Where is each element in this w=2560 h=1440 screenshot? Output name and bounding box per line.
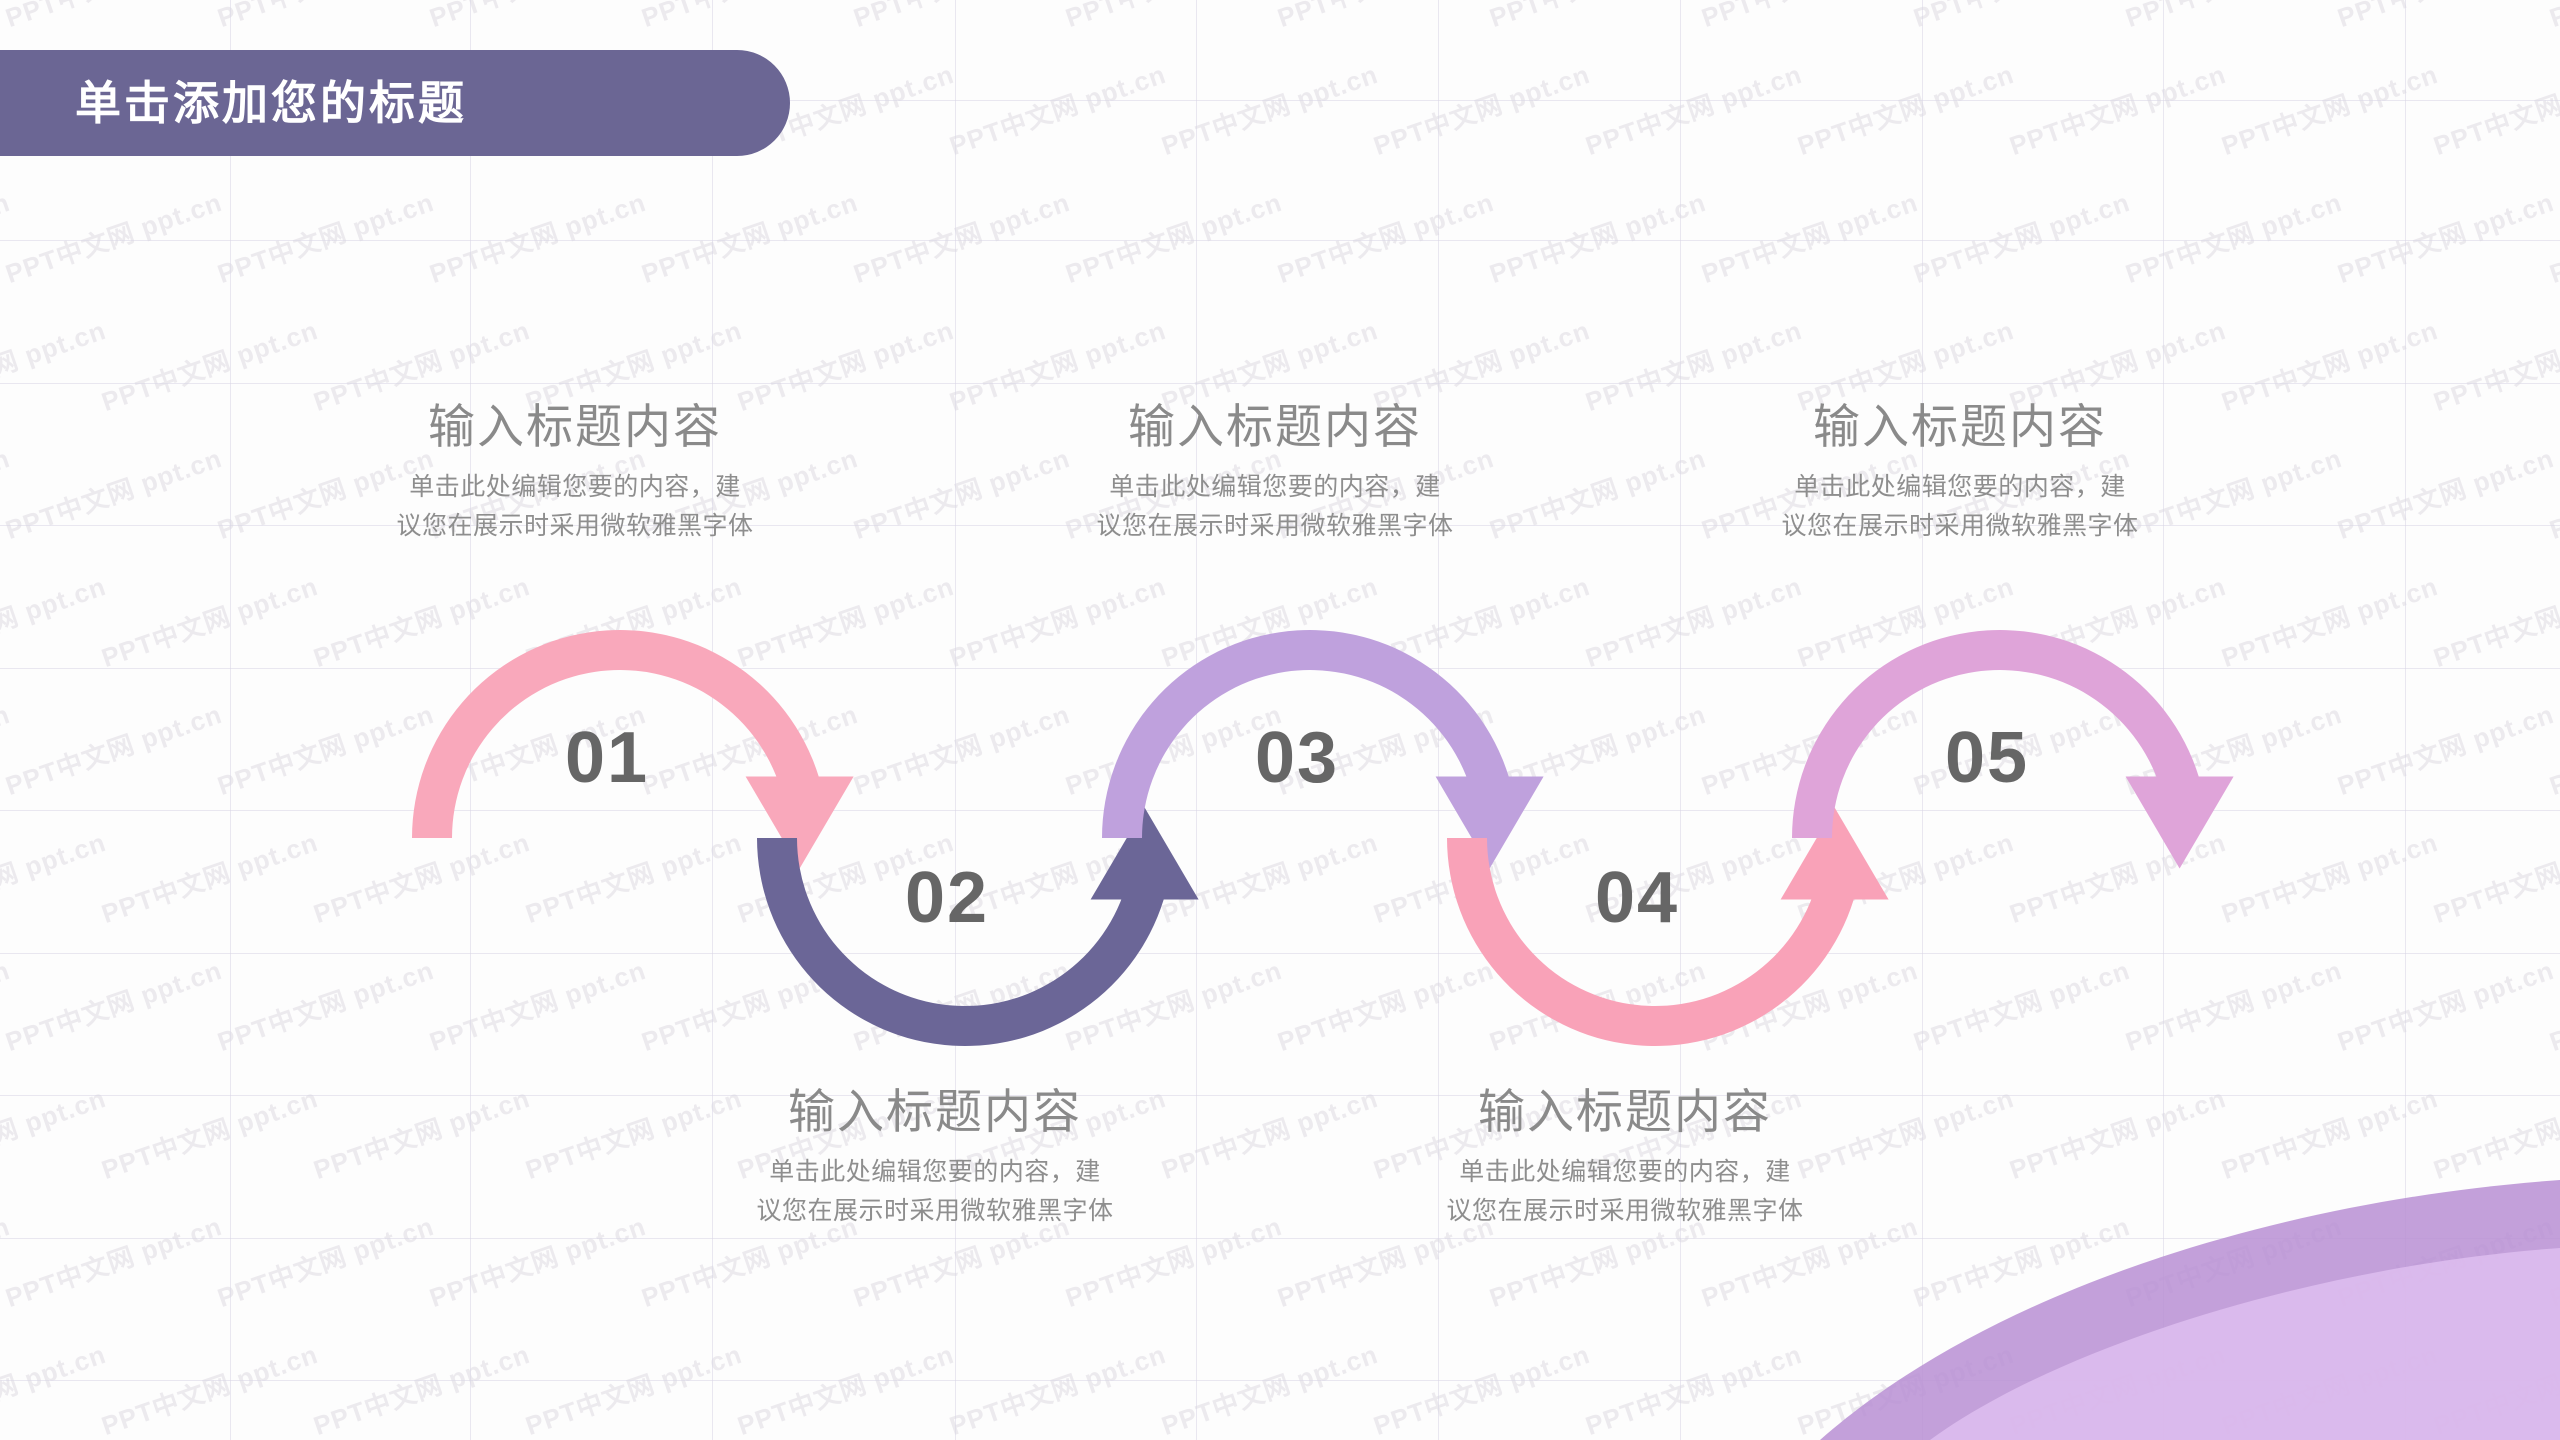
watermark-text: PPT中文网 ppt.cn xyxy=(1060,0,1286,35)
watermark-text: PPT中文网 ppt.cn xyxy=(2332,950,2558,1059)
watermark-text: PPT中文网 ppt.cn xyxy=(2428,566,2560,675)
watermark-text: PPT中文网 ppt.cn xyxy=(848,950,1074,1059)
content-block-5: 输入标题内容 单击此处编辑您要的内容，建 议您在展示时采用微软雅黑字体 xyxy=(1680,400,2240,546)
watermark-text: PPT中文网 ppt.cn xyxy=(0,822,110,931)
watermark-text: PPT中文网 ppt.cn xyxy=(1156,1334,1382,1440)
arrowhead-icon xyxy=(746,776,854,868)
watermark-text: PPT中文网 ppt.cn xyxy=(96,566,322,675)
content-block-3-heading: 输入标题内容 xyxy=(995,400,1555,454)
watermark-text: PPT中文网 ppt.cn xyxy=(848,0,1074,35)
watermark-text: PPT中文网 ppt.cn xyxy=(2428,54,2560,163)
slide-canvas: PPT中文网 ppt.cnPPT中文网 ppt.cnPPT中文网 ppt.cnP… xyxy=(0,0,2560,1440)
watermark-text: PPT中文网 ppt.cn xyxy=(424,0,650,35)
watermark-text: PPT中文网 ppt.cn xyxy=(2544,950,2560,1059)
guide-line-horizontal xyxy=(0,810,2560,811)
content-block-4: 输入标题内容 单击此处编辑您要的内容，建 议您在展示时采用微软雅黑字体 xyxy=(1345,1085,1905,1231)
content-block-1-body-line2: 议您在展示时采用微软雅黑字体 xyxy=(345,507,805,546)
watermark-text: PPT中文网 ppt.cn xyxy=(2332,182,2558,291)
watermark-text: PPT中文网 ppt.cn xyxy=(1908,1206,2134,1315)
watermark-text: PPT中文网 ppt.cn xyxy=(1484,694,1710,803)
guide-line-horizontal xyxy=(0,1380,2560,1381)
watermark-text: PPT中文网 ppt.cn xyxy=(1484,0,1710,35)
watermark-text: PPT中文网 ppt.cn xyxy=(1696,182,1922,291)
watermark-text: PPT中文网 ppt.cn xyxy=(2428,310,2560,419)
watermark-text: PPT中文网 ppt.cn xyxy=(1792,1334,2018,1440)
watermark-text: PPT中文网 ppt.cn xyxy=(1792,566,2018,675)
watermark-text: PPT中文网 ppt.cn xyxy=(1792,54,2018,163)
watermark-text: PPT中文网 ppt.cn xyxy=(2120,694,2346,803)
watermark-text: PPT中文网 ppt.cn xyxy=(1792,822,2018,931)
guide-line-vertical xyxy=(1922,0,1923,1440)
watermark-text: PPT中文网 ppt.cn xyxy=(2216,822,2442,931)
watermark-text: PPT中文网 ppt.cn xyxy=(96,1334,322,1440)
watermark-text: PPT中文网 ppt.cn xyxy=(636,950,862,1059)
watermark-text: PPT中文网 ppt.cn xyxy=(308,822,534,931)
watermark-text: PPT中文网 ppt.cn xyxy=(520,566,746,675)
watermark-text: PPT中文网 ppt.cn xyxy=(2216,566,2442,675)
content-block-1-body: 单击此处编辑您要的内容，建 议您在展示时采用微软雅黑字体 xyxy=(345,468,805,546)
watermark-text: PPT中文网 ppt.cn xyxy=(0,182,226,291)
arrowhead-icon xyxy=(2126,776,2234,868)
watermark-text: PPT中文网 ppt.cn xyxy=(96,1078,322,1187)
watermark-text: PPT中文网 ppt.cn xyxy=(212,950,438,1059)
content-block-4-body-line2: 议您在展示时采用微软雅黑字体 xyxy=(1395,1192,1855,1231)
watermark-text: PPT中文网 ppt.cn xyxy=(636,0,862,35)
step-number-04: 04 xyxy=(1595,862,1679,934)
page-title: 单击添加您的标题 xyxy=(75,80,467,126)
watermark-text: PPT中文网 ppt.cn xyxy=(2216,1078,2442,1187)
watermark-text: PPT中文网 ppt.cn xyxy=(2544,1206,2560,1315)
watermark-text: PPT中文网 ppt.cn xyxy=(2004,54,2230,163)
watermark-text: PPT中文网 ppt.cn xyxy=(1272,182,1498,291)
watermark-text: PPT中文网 ppt.cn xyxy=(2004,822,2230,931)
content-block-2-heading: 输入标题内容 xyxy=(655,1085,1215,1139)
step-number-02: 02 xyxy=(905,862,989,934)
watermark-text: PPT中文网 ppt.cn xyxy=(0,1334,110,1440)
watermark-text: PPT中文网 ppt.cn xyxy=(0,694,226,803)
watermark-text: PPT中文网 ppt.cn xyxy=(848,182,1074,291)
watermark-text: PPT中文网 ppt.cn xyxy=(1060,182,1286,291)
watermark-text: PPT中文网 ppt.cn xyxy=(0,566,110,675)
content-block-3-body: 单击此处编辑您要的内容，建 议您在展示时采用微软雅黑字体 xyxy=(1045,468,1505,546)
guide-line-vertical xyxy=(230,0,231,1440)
content-block-2-body: 单击此处编辑您要的内容，建 议您在展示时采用微软雅黑字体 xyxy=(705,1153,1165,1231)
content-block-2-body-line1: 单击此处编辑您要的内容，建 xyxy=(705,1153,1165,1192)
watermark-text: PPT中文网 ppt.cn xyxy=(308,566,534,675)
step-number-05: 05 xyxy=(1945,722,2029,794)
watermark-text: PPT中文网 ppt.cn xyxy=(1368,822,1594,931)
guide-line-horizontal xyxy=(0,1238,2560,1239)
watermark-text: PPT中文网 ppt.cn xyxy=(1696,0,1922,35)
content-block-4-body-line1: 单击此处编辑您要的内容，建 xyxy=(1395,1153,1855,1192)
watermark-text: PPT中文网 ppt.cn xyxy=(308,1078,534,1187)
watermark-text: PPT中文网 ppt.cn xyxy=(1156,54,1382,163)
content-block-1: 输入标题内容 单击此处编辑您要的内容，建 议您在展示时采用微软雅黑字体 xyxy=(295,400,855,546)
watermark-text: PPT中文网 ppt.cn xyxy=(1908,950,2134,1059)
watermark-text: PPT中文网 ppt.cn xyxy=(944,54,1170,163)
guide-line-horizontal xyxy=(0,668,2560,669)
watermark-text: PPT中文网 ppt.cn xyxy=(1908,0,2134,35)
watermark-text: PPT中文网 ppt.cn xyxy=(2004,566,2230,675)
watermark-text: PPT中文网 ppt.cn xyxy=(424,1206,650,1315)
watermark-text: PPT中文网 ppt.cn xyxy=(1272,950,1498,1059)
watermark-text: PPT中文网 ppt.cn xyxy=(1696,950,1922,1059)
watermark-text: PPT中文网 ppt.cn xyxy=(1580,566,1806,675)
watermark-text: PPT中文网 ppt.cn xyxy=(0,0,226,35)
watermark-text: PPT中文网 ppt.cn xyxy=(732,566,958,675)
watermark-text: PPT中文网 ppt.cn xyxy=(96,310,322,419)
watermark-text: PPT中文网 ppt.cn xyxy=(0,950,14,1059)
watermark-text: PPT中文网 ppt.cn xyxy=(2544,182,2560,291)
watermark-text: PPT中文网 ppt.cn xyxy=(2428,822,2560,931)
guide-line-vertical xyxy=(470,0,471,1440)
guide-line-horizontal xyxy=(0,240,2560,241)
watermark-text: PPT中文网 ppt.cn xyxy=(636,182,862,291)
watermark-text: PPT中文网 ppt.cn xyxy=(2216,310,2442,419)
content-block-1-body-line1: 单击此处编辑您要的内容，建 xyxy=(345,468,805,507)
content-block-5-body-line2: 议您在展示时采用微软雅黑字体 xyxy=(1730,507,2190,546)
watermark-text: PPT中文网 ppt.cn xyxy=(1368,566,1594,675)
watermark-text: PPT中文网 ppt.cn xyxy=(2428,1078,2560,1187)
watermark-text: PPT中文网 ppt.cn xyxy=(636,694,862,803)
content-block-4-heading: 输入标题内容 xyxy=(1345,1085,1905,1139)
watermark-text: PPT中文网 ppt.cn xyxy=(1696,694,1922,803)
content-block-5-heading: 输入标题内容 xyxy=(1680,400,2240,454)
watermark-text: PPT中文网 ppt.cn xyxy=(1580,1334,1806,1440)
watermark-text: PPT中文网 ppt.cn xyxy=(1908,182,2134,291)
watermark-text: PPT中文网 ppt.cn xyxy=(424,950,650,1059)
watermark-text: PPT中文网 ppt.cn xyxy=(0,1206,14,1315)
watermark-text: PPT中文网 ppt.cn xyxy=(1580,54,1806,163)
watermark-text: PPT中文网 ppt.cn xyxy=(1272,0,1498,35)
content-block-5-body-line1: 单击此处编辑您要的内容，建 xyxy=(1730,468,2190,507)
watermark-text: PPT中文网 ppt.cn xyxy=(2544,0,2560,35)
step-number-01: 01 xyxy=(565,722,649,794)
slide-title-bar[interactable]: 单击添加您的标题 xyxy=(0,50,790,156)
watermark-text: PPT中文网 ppt.cn xyxy=(0,438,226,547)
arrowhead-icon xyxy=(1781,808,1889,900)
watermark-text: PPT中文网 ppt.cn xyxy=(1060,950,1286,1059)
guide-line-vertical xyxy=(2405,0,2406,1440)
watermark-text: PPT中文网 ppt.cn xyxy=(2120,0,2346,35)
guide-line-horizontal xyxy=(0,383,2560,384)
watermark-text: PPT中文网 ppt.cn xyxy=(2120,182,2346,291)
watermark-text: PPT中文网 ppt.cn xyxy=(1156,566,1382,675)
watermark-text: PPT中文网 ppt.cn xyxy=(212,1206,438,1315)
watermark-text: PPT中文网 ppt.cn xyxy=(1368,54,1594,163)
watermark-text: PPT中文网 ppt.cn xyxy=(424,182,650,291)
watermark-text: PPT中文网 ppt.cn xyxy=(0,0,14,35)
watermark-text: PPT中文网 ppt.cn xyxy=(2544,694,2560,803)
content-block-2-body-line2: 议您在展示时采用微软雅黑字体 xyxy=(705,1192,1165,1231)
wave-back-shape xyxy=(1820,1180,2560,1440)
arrowhead-icon xyxy=(1436,776,1544,868)
watermark-text: PPT中文网 ppt.cn xyxy=(0,1078,110,1187)
watermark-text: PPT中文网 ppt.cn xyxy=(1484,950,1710,1059)
guide-line-horizontal xyxy=(0,1095,2560,1096)
content-block-2: 输入标题内容 单击此处编辑您要的内容，建 议您在展示时采用微软雅黑字体 xyxy=(655,1085,1215,1231)
watermark-text: PPT中文网 ppt.cn xyxy=(732,1334,958,1440)
watermark-text: PPT中文网 ppt.cn xyxy=(1368,1334,1594,1440)
watermark-text: PPT中文网 ppt.cn xyxy=(2332,694,2558,803)
watermark-text: PPT中文网 ppt.cn xyxy=(96,822,322,931)
watermark-text: PPT中文网 ppt.cn xyxy=(2428,1334,2560,1440)
watermark-text: PPT中文网 ppt.cn xyxy=(0,950,226,1059)
wave-front-shape xyxy=(1930,1248,2560,1440)
content-block-1-heading: 输入标题内容 xyxy=(295,400,855,454)
arrowhead-icon xyxy=(1091,808,1199,900)
watermark-text: PPT中文网 ppt.cn xyxy=(2216,54,2442,163)
watermark-text: PPT中文网 ppt.cn xyxy=(0,310,110,419)
watermark-text: PPT中文网 ppt.cn xyxy=(520,1334,746,1440)
watermark-text: PPT中文网 ppt.cn xyxy=(944,1334,1170,1440)
watermark-text: PPT中文网 ppt.cn xyxy=(308,1334,534,1440)
guide-line-vertical xyxy=(2163,0,2164,1440)
watermark-text: PPT中文网 ppt.cn xyxy=(1156,822,1382,931)
content-block-5-body: 单击此处编辑您要的内容，建 议您在展示时采用微软雅黑字体 xyxy=(1730,468,2190,546)
watermark-text: PPT中文网 ppt.cn xyxy=(0,1206,226,1315)
content-block-3-body-line2: 议您在展示时采用微软雅黑字体 xyxy=(1045,507,1505,546)
watermark-text: PPT中文网 ppt.cn xyxy=(2216,1334,2442,1440)
watermark-text: PPT中文网 ppt.cn xyxy=(2004,1078,2230,1187)
watermark-text: PPT中文网 ppt.cn xyxy=(212,0,438,35)
watermark-text: PPT中文网 ppt.cn xyxy=(212,182,438,291)
watermark-text: PPT中文网 ppt.cn xyxy=(0,182,14,291)
watermark-text: PPT中文网 ppt.cn xyxy=(2332,0,2558,35)
watermark-text: PPT中文网 ppt.cn xyxy=(0,694,14,803)
watermark-text: PPT中文网 ppt.cn xyxy=(2120,950,2346,1059)
watermark-text: PPT中文网 ppt.cn xyxy=(944,566,1170,675)
watermark-text: PPT中文网 ppt.cn xyxy=(212,694,438,803)
content-block-4-body: 单击此处编辑您要的内容，建 议您在展示时采用微软雅黑字体 xyxy=(1395,1153,1855,1231)
watermark-text: PPT中文网 ppt.cn xyxy=(848,694,1074,803)
watermark-text: PPT中文网 ppt.cn xyxy=(2332,438,2558,547)
guide-line-horizontal xyxy=(0,953,2560,954)
content-block-3: 输入标题内容 单击此处编辑您要的内容，建 议您在展示时采用微软雅黑字体 xyxy=(995,400,1555,546)
watermark-text: PPT中文网 ppt.cn xyxy=(520,822,746,931)
watermark-text: PPT中文网 ppt.cn xyxy=(2332,1206,2558,1315)
watermark-text: PPT中文网 ppt.cn xyxy=(1484,182,1710,291)
watermark-text: PPT中文网 ppt.cn xyxy=(2120,1206,2346,1315)
watermark-text: PPT中文网 ppt.cn xyxy=(1060,694,1286,803)
watermark-text: PPT中文网 ppt.cn xyxy=(2544,438,2560,547)
content-block-3-body-line1: 单击此处编辑您要的内容，建 xyxy=(1045,468,1505,507)
watermark-text: PPT中文网 ppt.cn xyxy=(0,438,14,547)
step-number-03: 03 xyxy=(1255,722,1339,794)
watermark-text: PPT中文网 ppt.cn xyxy=(2004,1334,2230,1440)
